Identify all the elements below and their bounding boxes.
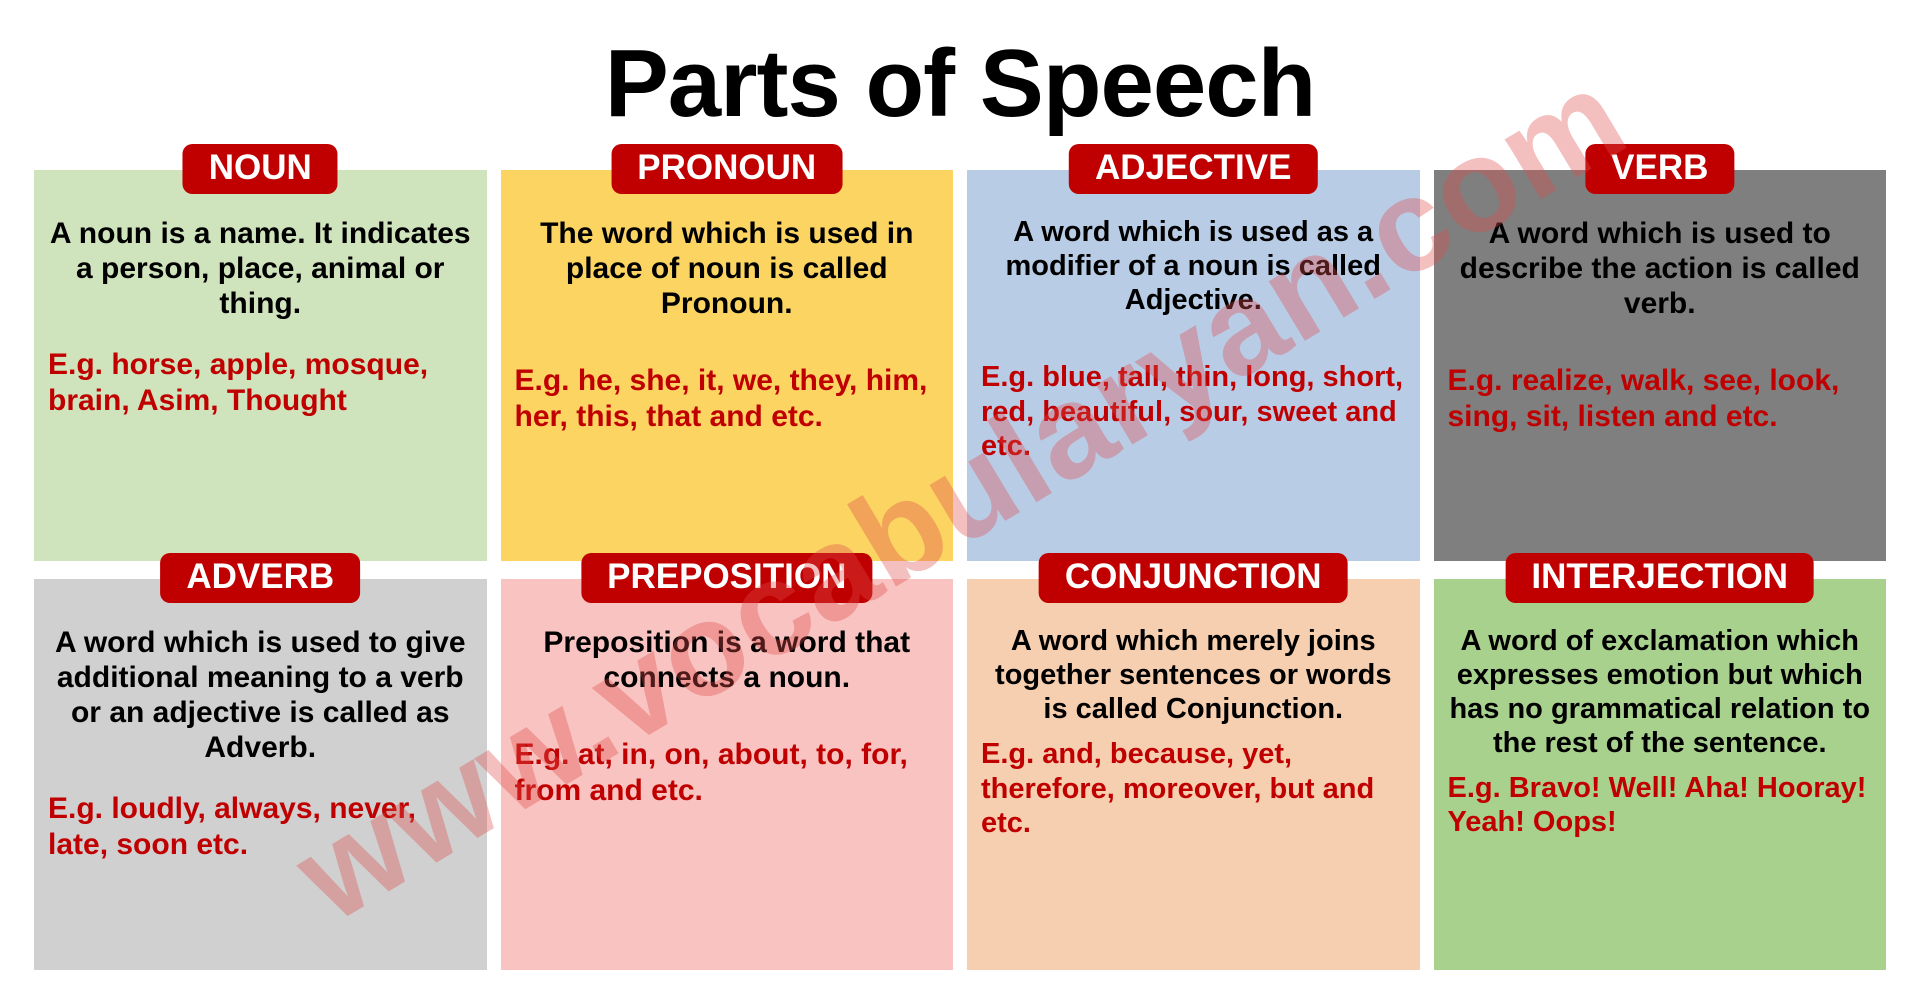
card-noun-body: A noun is a name. It indicates a person,…: [48, 216, 473, 419]
card-conjunction-body: A word which merely joins together sente…: [981, 625, 1406, 841]
card-pronoun-badge: PRONOUN: [611, 144, 842, 194]
parts-of-speech-poster: Parts of Speech NOUN A noun is a name. I…: [0, 0, 1920, 989]
card-adverb-examples: E.g. loudly, always, never, late, soon e…: [48, 791, 473, 863]
card-interjection-examples: E.g. Bravo! Well! Aha! Hooray! Yeah! Oop…: [1448, 771, 1873, 841]
card-noun-badge: NOUN: [183, 144, 338, 194]
card-interjection-body: A word of exclamation which expresses em…: [1448, 625, 1873, 840]
card-preposition-badge: PREPOSITION: [581, 553, 872, 603]
card-adverb-badge: ADVERB: [160, 553, 360, 603]
card-verb-badge: VERB: [1585, 144, 1734, 194]
card-preposition-definition: Preposition is a word that connects a no…: [515, 625, 940, 695]
card-noun: NOUN A noun is a name. It indicates a pe…: [34, 170, 487, 561]
card-noun-definition: A noun is a name. It indicates a person,…: [48, 216, 473, 321]
card-conjunction-definition: A word which merely joins together sente…: [981, 625, 1406, 727]
card-adjective: ADJECTIVE A word which is used as a modi…: [967, 170, 1420, 561]
card-interjection: INTERJECTION A word of exclamation which…: [1434, 579, 1887, 970]
card-adjective-definition: A word which is used as a modifier of a …: [981, 216, 1406, 318]
parts-of-speech-grid: NOUN A noun is a name. It indicates a pe…: [0, 170, 1920, 980]
card-verb-examples: E.g. realize, walk, see, look, sing, sit…: [1448, 363, 1873, 435]
card-adjective-body: A word which is used as a modifier of a …: [981, 216, 1406, 464]
card-adverb: ADVERB A word which is used to give addi…: [34, 579, 487, 970]
card-conjunction-examples: E.g. and, because, yet, therefore, moreo…: [981, 737, 1406, 841]
card-interjection-badge: INTERJECTION: [1505, 553, 1814, 603]
card-noun-examples: E.g. horse, apple, mosque, brain, Asim, …: [48, 347, 473, 419]
card-pronoun-body: The word which is used in place of noun …: [515, 216, 940, 435]
card-adjective-badge: ADJECTIVE: [1069, 144, 1317, 194]
card-adjective-examples: E.g. blue, tall, thin, long, short, red,…: [981, 360, 1406, 464]
card-conjunction-badge: CONJUNCTION: [1039, 553, 1348, 603]
card-interjection-definition: A word of exclamation which expresses em…: [1448, 625, 1873, 761]
card-preposition-body: Preposition is a word that connects a no…: [515, 625, 940, 809]
card-preposition: PREPOSITION Preposition is a word that c…: [501, 579, 954, 970]
card-pronoun-definition: The word which is used in place of noun …: [515, 216, 940, 321]
card-adverb-definition: A word which is used to give additional …: [48, 625, 473, 765]
card-preposition-examples: E.g. at, in, on, about, to, for, from an…: [515, 737, 940, 809]
card-adverb-body: A word which is used to give additional …: [48, 625, 473, 863]
card-verb-definition: A word which is used to describe the act…: [1448, 216, 1873, 321]
card-pronoun: PRONOUN The word which is used in place …: [501, 170, 954, 561]
page-title: Parts of Speech: [0, 36, 1920, 132]
card-conjunction: CONJUNCTION A word which merely joins to…: [967, 579, 1420, 970]
card-verb-body: A word which is used to describe the act…: [1448, 216, 1873, 435]
card-pronoun-examples: E.g. he, she, it, we, they, him, her, th…: [515, 363, 940, 435]
card-verb: VERB A word which is used to describe th…: [1434, 170, 1887, 561]
